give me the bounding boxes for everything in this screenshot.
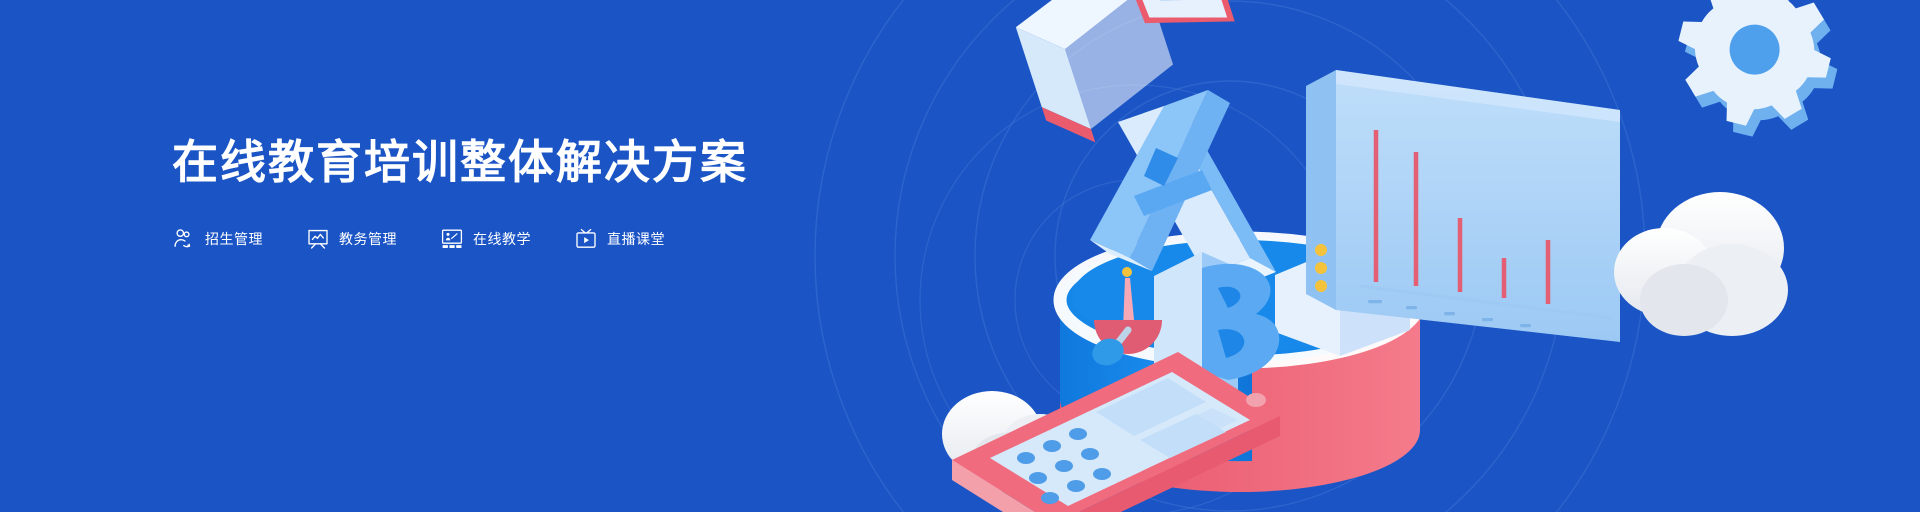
gear: [1660, 0, 1855, 153]
feature-item-academic-affairs[interactable]: 教务管理: [306, 227, 397, 251]
enrollment-users-icon: [172, 227, 196, 251]
chart-board-icon: [306, 227, 330, 251]
page-title: 在线教育培训整体解决方案: [172, 136, 792, 189]
feature-label-online-teaching: 在线教学: [473, 229, 531, 249]
feature-item-online-teaching[interactable]: 在线教学: [440, 227, 531, 251]
feature-item-live-classroom[interactable]: 直播课堂: [574, 227, 665, 251]
live-tv-play-icon: [574, 227, 598, 251]
cloud-large: [1614, 192, 1788, 336]
monitor-bar-chart: [1306, 70, 1620, 342]
feature-item-enrollment[interactable]: 招生管理: [172, 227, 263, 251]
education-illustration: [920, 0, 1920, 512]
classroom-teaching-icon: [440, 227, 464, 251]
education-hero-banner: 在线教育培训整体解决方案 招生管理: [0, 0, 1920, 512]
feature-label-enrollment: 招生管理: [205, 229, 263, 249]
feature-label-live-classroom: 直播课堂: [607, 229, 665, 249]
monitor-status-dots: [1315, 244, 1327, 292]
feature-list: 招生管理 教务管理: [172, 227, 792, 251]
feature-label-academic-affairs: 教务管理: [339, 229, 397, 249]
hero-copy: 在线教育培训整体解决方案 招生管理: [172, 136, 792, 251]
